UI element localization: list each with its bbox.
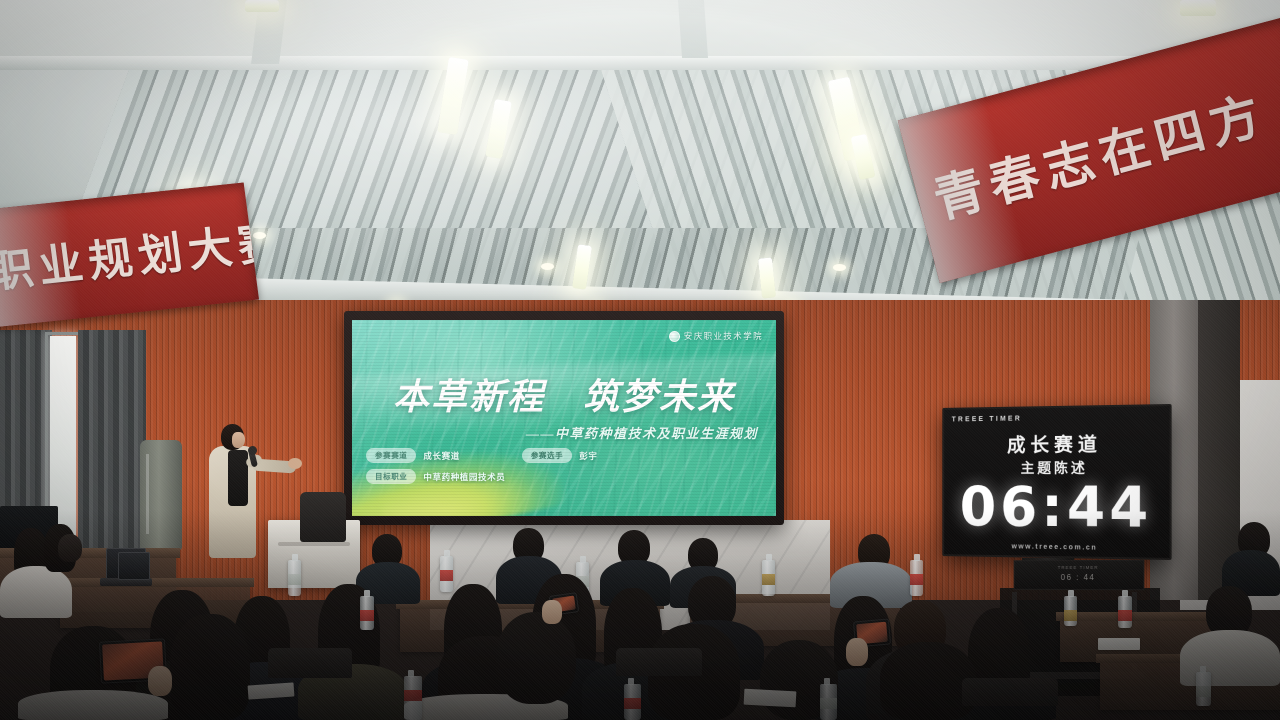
water-bottle-11 bbox=[1118, 596, 1132, 628]
presenter-hand bbox=[288, 458, 302, 469]
ceiling-soffit bbox=[0, 0, 1280, 62]
water-bottle-7 bbox=[624, 684, 641, 720]
staff-head-2 bbox=[58, 534, 82, 562]
audience-desk-left-1-top bbox=[56, 578, 254, 587]
notebook-paper-2 bbox=[744, 689, 797, 708]
chair-back-2 bbox=[616, 648, 702, 676]
venue-photo-scene: 职业规划大赛 青春志在四方 规划 安庆职业技术学院 本草新程 筑梦未来 ——中草… bbox=[0, 0, 1280, 720]
timer-secondary-label: TREEE TIMER bbox=[1015, 565, 1144, 570]
staff-shoulders-1 bbox=[0, 566, 72, 618]
chair-back-1 bbox=[268, 648, 352, 678]
water-bottle-9 bbox=[360, 596, 374, 630]
water-bottle-4 bbox=[910, 560, 923, 596]
slide-tag-value-2: 彭宇 bbox=[579, 450, 597, 462]
slide-tag-label-2: 参赛选手 bbox=[522, 448, 572, 463]
ceiling-downlight-1 bbox=[253, 232, 266, 239]
microphone-head bbox=[248, 446, 257, 455]
slide-tag-label: 参赛赛道 bbox=[366, 448, 416, 463]
water-bottle-6 bbox=[404, 676, 422, 720]
slide-tag-row: 参赛赛道 成长赛道 参赛选手 彭宇 bbox=[366, 448, 597, 463]
water-bottle-12 bbox=[1064, 596, 1077, 626]
slide-tag-value: 中草药种植园技术员 bbox=[423, 471, 505, 483]
slide-tag-row: 目标职业 中草药种植园技术员 bbox=[366, 469, 597, 484]
water-bottle-8 bbox=[820, 684, 837, 720]
timer-countdown-value: 06:44 bbox=[944, 480, 1169, 536]
notebook-paper-3 bbox=[1098, 638, 1140, 650]
institution-logo: 安庆职业技术学院 bbox=[669, 330, 763, 342]
water-bottle-5 bbox=[288, 560, 301, 596]
slide-tag-list: 参赛赛道 成长赛道 参赛选手 彭宇 目标职业 中草药种植园技术员 bbox=[366, 448, 597, 490]
institution-logo-text: 安庆职业技术学院 bbox=[684, 330, 763, 342]
led-stage-screen-bezel: 安庆职业技术学院 本草新程 筑梦未来 ——中草药种植技术及职业生涯规划 参赛赛道… bbox=[344, 311, 784, 525]
water-bottle-10 bbox=[1196, 672, 1211, 706]
led-stage-screen: 安庆职业技术学院 本草新程 筑梦未来 ——中草药种植技术及职业生涯规划 参赛赛道… bbox=[352, 320, 776, 516]
audience-shoulders-mid-11 bbox=[1180, 630, 1280, 686]
audience-hair-front-2 bbox=[170, 614, 250, 720]
slide-tag-label: 目标职业 bbox=[366, 469, 416, 484]
institution-logo-mark-icon bbox=[669, 331, 680, 342]
stage-chair bbox=[300, 492, 346, 542]
presenter-inner-shirt bbox=[228, 450, 248, 506]
presenter-face bbox=[232, 432, 245, 448]
chair-back-3 bbox=[962, 678, 1058, 706]
ceiling-strip-light-8 bbox=[1180, 0, 1216, 16]
ceiling-strip-light-9 bbox=[245, 0, 279, 12]
hand-holding-tablet bbox=[148, 666, 172, 696]
timer-secondary-panel: TREEE TIMER 06 : 44 bbox=[1014, 560, 1145, 590]
water-bottle-3 bbox=[762, 560, 775, 596]
timer-brand-label: TREEE TIMER bbox=[952, 415, 1022, 423]
timer-url-label: www.treee.com.cn bbox=[944, 542, 1169, 552]
ceiling-beam-horizontal bbox=[0, 56, 1280, 70]
ceiling-downlight-2 bbox=[541, 263, 554, 270]
air-conditioner-unit bbox=[140, 440, 182, 550]
slide-subtitle: ——中草药种植技术及职业生涯规划 bbox=[526, 423, 758, 442]
ceiling-downlight-3 bbox=[833, 264, 846, 271]
audience-head-front-4 bbox=[496, 612, 576, 704]
hand-holding-phone bbox=[846, 638, 868, 666]
ceiling-beam-vertical-right bbox=[678, 0, 708, 58]
water-bottle-1 bbox=[440, 556, 453, 592]
countdown-timer-display: TREEE TIMER 成长赛道 主题陈述 06:44 www.treee.co… bbox=[942, 404, 1171, 560]
timer-track-label: 成长赛道 bbox=[944, 429, 1169, 458]
audience-shoulders-front-1 bbox=[18, 690, 168, 720]
slide-title: 本草新程 筑梦未来 bbox=[352, 368, 776, 420]
banner-left-text: 职业规划大赛 bbox=[0, 205, 259, 300]
slide-tag-value: 成长赛道 bbox=[423, 450, 459, 462]
hand-holding-phone-2 bbox=[542, 600, 562, 624]
timer-secondary-value: 06 : 44 bbox=[1015, 573, 1144, 582]
staff-laptop-screen-2 bbox=[118, 552, 150, 580]
